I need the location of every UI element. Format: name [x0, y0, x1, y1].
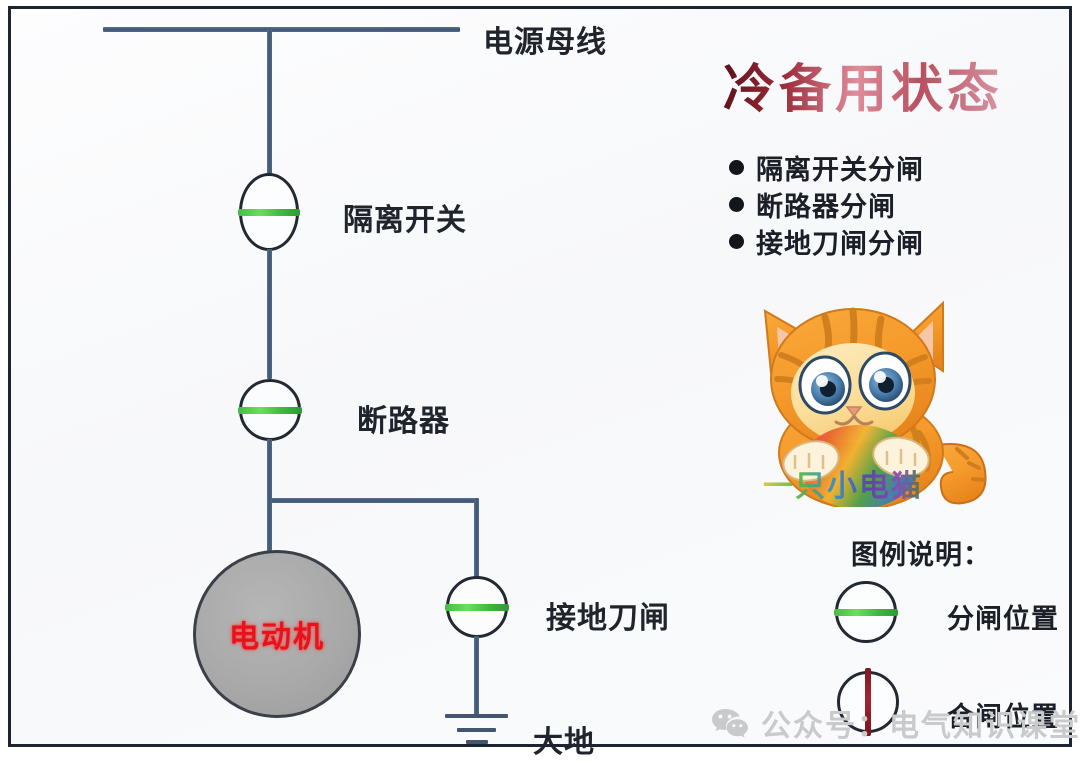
wire-bus-to-isolator	[267, 29, 272, 174]
wire-earth-switch-to-ground	[474, 636, 479, 716]
mascot-caption: 一只小电猫	[763, 461, 923, 505]
list-item: 断路器分闸	[729, 186, 924, 223]
condition-label: 接地刀闸分闸	[756, 222, 924, 261]
wire-breaker-to-junction	[267, 439, 272, 502]
motor-symbol[interactable]: 电动机	[193, 550, 361, 718]
wire-branch-to-earth-switch	[474, 498, 479, 578]
wire-isolator-to-breaker	[267, 249, 272, 379]
motor-label: 电动机	[229, 612, 325, 656]
ground-bar-1	[445, 714, 508, 718]
breaker-label: 断路器	[357, 396, 450, 440]
bullet-dot-icon	[729, 160, 744, 175]
wire-branch-horizontal	[267, 498, 479, 503]
power-bus-line	[103, 27, 460, 32]
legend-closed-bar	[865, 668, 871, 736]
breaker-open-bar	[238, 407, 302, 414]
diagram-frame: 电源母线 隔离开关 断路器 电动机 接地刀闸	[8, 6, 1072, 747]
list-item: 接地刀闸分闸	[729, 223, 924, 260]
legend-open-symbol	[835, 581, 897, 643]
ground-label: 大地	[533, 717, 595, 761]
isolator-open-bar	[238, 209, 300, 216]
list-item: 隔离开关分闸	[729, 149, 924, 186]
legend-closed-label: 合闸位置	[947, 695, 1059, 734]
earth-switch-label: 接地刀闸	[546, 593, 670, 637]
diagram-canvas: 电源母线 隔离开关 断路器 电动机 接地刀闸	[0, 0, 1080, 763]
wechat-icon	[711, 707, 749, 739]
state-conditions-list: 隔离开关分闸 断路器分闸 接地刀闸分闸	[729, 149, 924, 260]
wire-junction-to-motor	[267, 498, 272, 558]
condition-label: 断路器分闸	[756, 185, 896, 224]
legend-open-bar	[834, 609, 898, 616]
earthing-switch-symbol[interactable]	[446, 576, 508, 638]
isolator-label: 隔离开关	[343, 195, 467, 239]
ground-bar-3	[466, 740, 488, 744]
legend-heading: 图例说明：	[851, 533, 991, 572]
bullet-dot-icon	[729, 234, 744, 249]
legend-closed-symbol	[837, 671, 899, 733]
circuit-breaker-symbol[interactable]	[239, 379, 301, 441]
ground-bar-2	[457, 728, 496, 732]
earth-switch-open-bar	[445, 604, 509, 611]
bus-label: 电源母线	[483, 17, 607, 61]
bullet-dot-icon	[729, 197, 744, 212]
legend-open-label: 分闸位置	[947, 597, 1059, 636]
condition-label: 隔离开关分闸	[756, 148, 924, 187]
isolator-switch-symbol[interactable]	[239, 173, 299, 251]
state-title: 冷备用状态	[723, 47, 1003, 122]
